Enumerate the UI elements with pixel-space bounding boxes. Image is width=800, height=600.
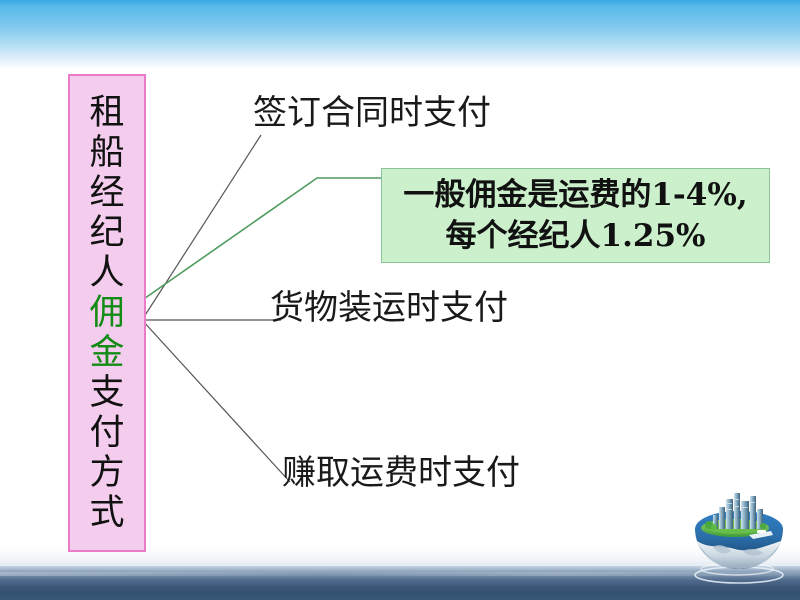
title-char: 租 xyxy=(89,93,124,133)
title-char: 支 xyxy=(89,373,124,413)
connector-branch-3 xyxy=(142,320,290,482)
callout-line: 一般佣金是运费的1-4%, xyxy=(403,175,747,216)
branch-label-freight-earned: 赚取运费时支付 xyxy=(282,453,520,493)
title-char: 方 xyxy=(89,453,124,493)
connector-branch-1 xyxy=(142,135,261,320)
branch-label-sign-contract: 签订合同时支付 xyxy=(253,93,491,133)
globe-city-icon xyxy=(683,483,791,587)
title-char: 式 xyxy=(89,493,124,533)
title-char-accent: 金 xyxy=(89,333,124,373)
title-char-accent: 佣 xyxy=(89,293,124,333)
branch-label-cargo-loading: 货物装运时支付 xyxy=(270,288,508,328)
title-char: 纪 xyxy=(89,213,124,253)
slide-canvas: 租 船 经 纪 人 佣 金 支 付 方 式 签订合同时支付 货物装运时支付 赚取… xyxy=(0,0,800,600)
title-char: 船 xyxy=(89,133,124,173)
title-char: 经 xyxy=(89,173,124,213)
callout-line: 每个经纪人1.25% xyxy=(446,216,706,257)
callout-box-commission-rate: 一般佣金是运费的1-4%, 每个经纪人1.25% xyxy=(381,168,770,263)
title-char: 付 xyxy=(89,413,124,453)
title-box-vertical: 租 船 经 纪 人 佣 金 支 付 方 式 xyxy=(68,74,146,552)
title-char: 人 xyxy=(89,253,124,293)
